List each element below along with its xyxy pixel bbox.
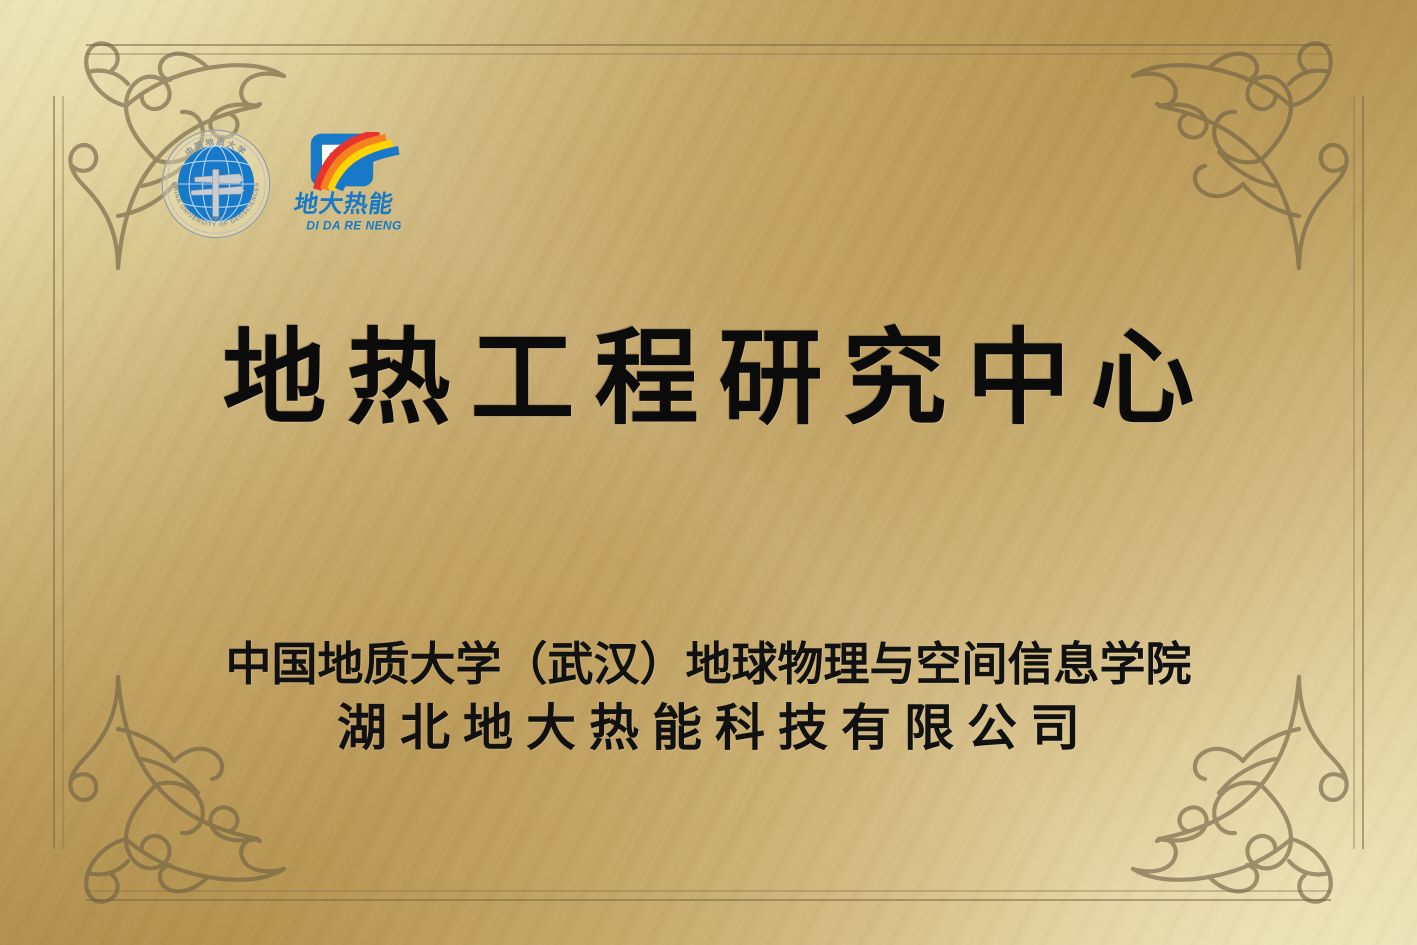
china-university-of-geosciences-emblem-icon: 中国地质大学 CHINA UNIVERSITY OF GEOSCIENCES 1… [160, 128, 272, 240]
didareneng-mark-icon: 地大热能 DI DA RE NENG [290, 132, 418, 236]
frame-line-top-inner [86, 53, 1331, 55]
page-title: 地热工程研究中心 [0, 328, 1417, 432]
logo-row: 中国地质大学 CHINA UNIVERSITY OF GEOSCIENCES 1… [160, 128, 418, 240]
frame-line-top-outer [86, 44, 1331, 46]
subtitle-line-company: 湖北地大热能科技有限公司 [0, 698, 1417, 759]
didareneng-chinese-wordmark: 地大热能 [292, 190, 395, 218]
frame-line-bottom-inner [86, 890, 1331, 892]
cug-year-text: 1952 [210, 217, 221, 223]
subtitle-block: 中国地质大学（武汉）地球物理与空间信息学院 湖北地大热能科技有限公司 [0, 638, 1417, 759]
award-plaque: 中国地质大学 CHINA UNIVERSITY OF GEOSCIENCES 1… [0, 0, 1417, 945]
didareneng-logo: 地大热能 DI DA RE NENG [290, 132, 418, 236]
corner-ornament-top-right [1127, 10, 1395, 278]
frame-line-bottom-outer [86, 899, 1331, 901]
didareneng-pinyin-wordmark: DI DA RE NENG [306, 219, 401, 233]
subtitle-line-university: 中国地质大学（武汉）地球物理与空间信息学院 [0, 638, 1417, 692]
